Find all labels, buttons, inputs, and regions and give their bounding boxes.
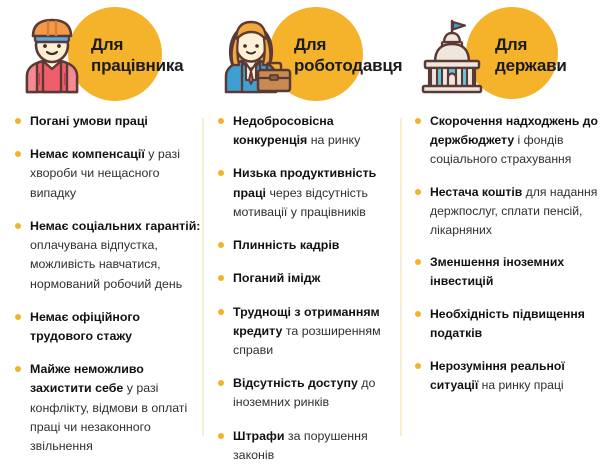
list-item: Поганий імідж [217, 269, 400, 288]
column-title-line2: роботодавця [294, 56, 402, 77]
list-item: Немає соціальних гарантій: оплачувана ві… [14, 217, 202, 294]
column-title-line1: Для [91, 35, 183, 56]
list-item-bold-text: Погані умови праці [30, 114, 148, 128]
government-building-icon [414, 15, 490, 97]
list-item-bold-text: Немає соціальних гарантій: [30, 219, 200, 233]
list-item-bold-text: Штрафи [233, 429, 284, 443]
column-title-line1: Для [495, 35, 567, 56]
list-item-bold-text: Поганий імідж [233, 271, 320, 285]
construction-worker-icon [14, 15, 90, 97]
column-employer: Для роботодавця Недобросовісна конкуренц… [202, 0, 400, 455]
list-item-bold-text: Немає компенсації [30, 147, 145, 161]
list-item: Труднощі з отриманням кредиту та розшире… [217, 303, 400, 361]
column-header-employer: Для роботодавця [217, 0, 400, 112]
column-divider [400, 118, 402, 436]
points-list-employer: Недобросовісна конкуренція на ринкуНизьк… [217, 112, 400, 465]
list-item: Штрафи за порушення законів [217, 427, 400, 465]
column-state: Для держави Скорочення надходжень до дер… [400, 0, 600, 455]
list-item: Майже неможливо захистити себе у разі ко… [14, 360, 202, 456]
column-title-line2: працівника [91, 56, 183, 77]
list-item-bold-text: Нестача коштів [430, 185, 522, 199]
list-item-normal-text: на ринку праці [478, 378, 563, 392]
list-item-normal-text: на ринку [307, 133, 360, 147]
list-item: Нестача коштів для надання держпослуг, с… [414, 183, 600, 240]
list-item: Плинність кадрів [217, 236, 400, 255]
list-item: Зменшення іноземних інвестицій [414, 253, 600, 291]
list-item-bold-text: Необхідність підвищення податків [430, 307, 585, 340]
list-item: Необхідність підвищення податків [414, 305, 600, 343]
list-item-bold-text: Зменшення іноземних інвестицій [430, 255, 564, 288]
column-title-worker: Для працівника [91, 35, 183, 76]
list-item: Нерозуміння реальної ситуації на ринку п… [414, 357, 600, 395]
list-item-bold-text: Відсутність доступу [233, 376, 358, 390]
list-item: Погані умови праці [14, 112, 202, 131]
list-item: Скорочення надходжень до держбюджету і ф… [414, 112, 600, 169]
column-divider [202, 118, 204, 436]
column-title-state: Для держави [495, 35, 567, 76]
list-item-normal-text: оплачувана відпустка, можливість навчати… [30, 238, 182, 290]
list-item: Немає компенсації у разі хвороби чи неща… [14, 145, 202, 203]
list-item-bold-text: Немає офіційного трудового стажу [30, 310, 140, 343]
infographic-root: Для працівника Погані умови праціНемає к… [0, 0, 600, 455]
column-title-line2: держави [495, 56, 567, 77]
points-list-state: Скорочення надходжень до держбюджету і ф… [414, 112, 600, 395]
points-list-worker: Погані умови праціНемає компенсації у ра… [14, 112, 202, 456]
column-title-employer: Для роботодавця [294, 35, 402, 76]
list-item: Відсутність доступу до іноземних ринків [217, 374, 400, 412]
column-worker: Для працівника Погані умови праціНемає к… [0, 0, 202, 455]
column-header-state: Для держави [414, 0, 600, 112]
column-header-worker: Для працівника [14, 0, 202, 112]
businesswoman-with-briefcase-icon [217, 15, 293, 97]
list-item: Недобросовісна конкуренція на ринку [217, 112, 400, 150]
column-title-line1: Для [294, 35, 402, 56]
list-item: Низька продуктивність праці через відсут… [217, 164, 400, 222]
list-item-bold-text: Плинність кадрів [233, 238, 339, 252]
list-item: Немає офіційного трудового стажу [14, 308, 202, 346]
